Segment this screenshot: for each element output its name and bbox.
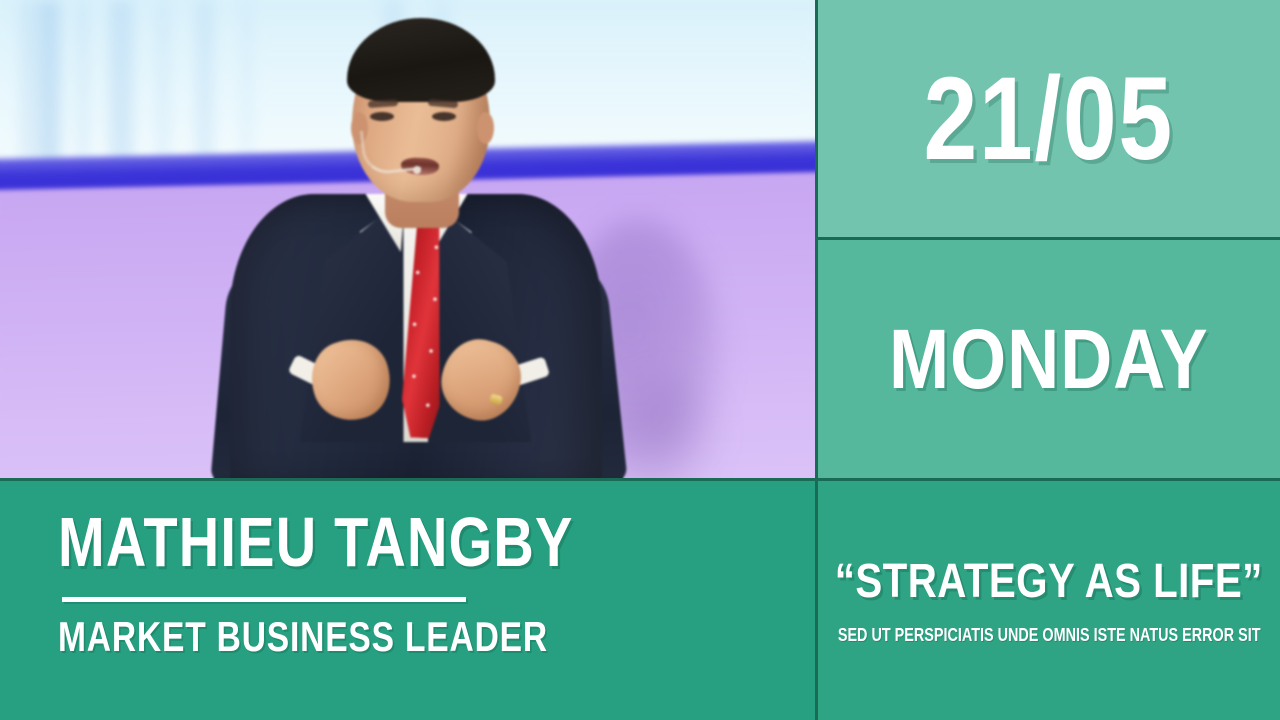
date-panel: 21/05: [818, 0, 1280, 237]
speaker-eye-right: [432, 112, 456, 121]
name-divider-rule: [62, 597, 466, 602]
speaker-role: MARKET BUSINESS LEADER: [58, 616, 618, 658]
speaker-video-panel[interactable]: [0, 0, 815, 478]
speaker-name-panel: MATHIEU TANGBY MARKET BUSINESS LEADER: [0, 481, 815, 720]
talk-title-panel: “STRATEGY AS LIFE” SED UT PERSPICIATIS U…: [818, 481, 1280, 720]
headset-microphone-tip: [413, 166, 421, 174]
speaker-hair: [347, 18, 495, 102]
speaker-ear-right: [477, 112, 494, 144]
speaker-figure: [196, 8, 636, 478]
slide-canvas: MATHIEU TANGBY MARKET BUSINESS LEADER 21…: [0, 0, 1280, 720]
speaker-name-group: MATHIEU TANGBY MARKET BUSINESS LEADER: [58, 507, 758, 658]
divider-date-weekday: [818, 237, 1280, 240]
divider-video-bottom: [0, 478, 815, 481]
speaker-eye-left: [370, 112, 394, 121]
speaker-name: MATHIEU TANGBY: [58, 507, 618, 577]
talk-title: “STRATEGY AS LIFE”: [835, 558, 1263, 606]
weekday-value: MONDAY: [889, 317, 1209, 401]
divider-vertical: [815, 0, 818, 720]
divider-weekday-title: [818, 478, 1280, 481]
talk-subtitle: SED UT PERSPICIATIS UNDE OMNIS ISTE NATU…: [838, 626, 1261, 644]
date-value: 21/05: [924, 60, 1174, 178]
info-column: 21/05 MONDAY “STRATEGY AS LIFE” SED UT P…: [818, 0, 1280, 720]
weekday-panel: MONDAY: [818, 240, 1280, 478]
